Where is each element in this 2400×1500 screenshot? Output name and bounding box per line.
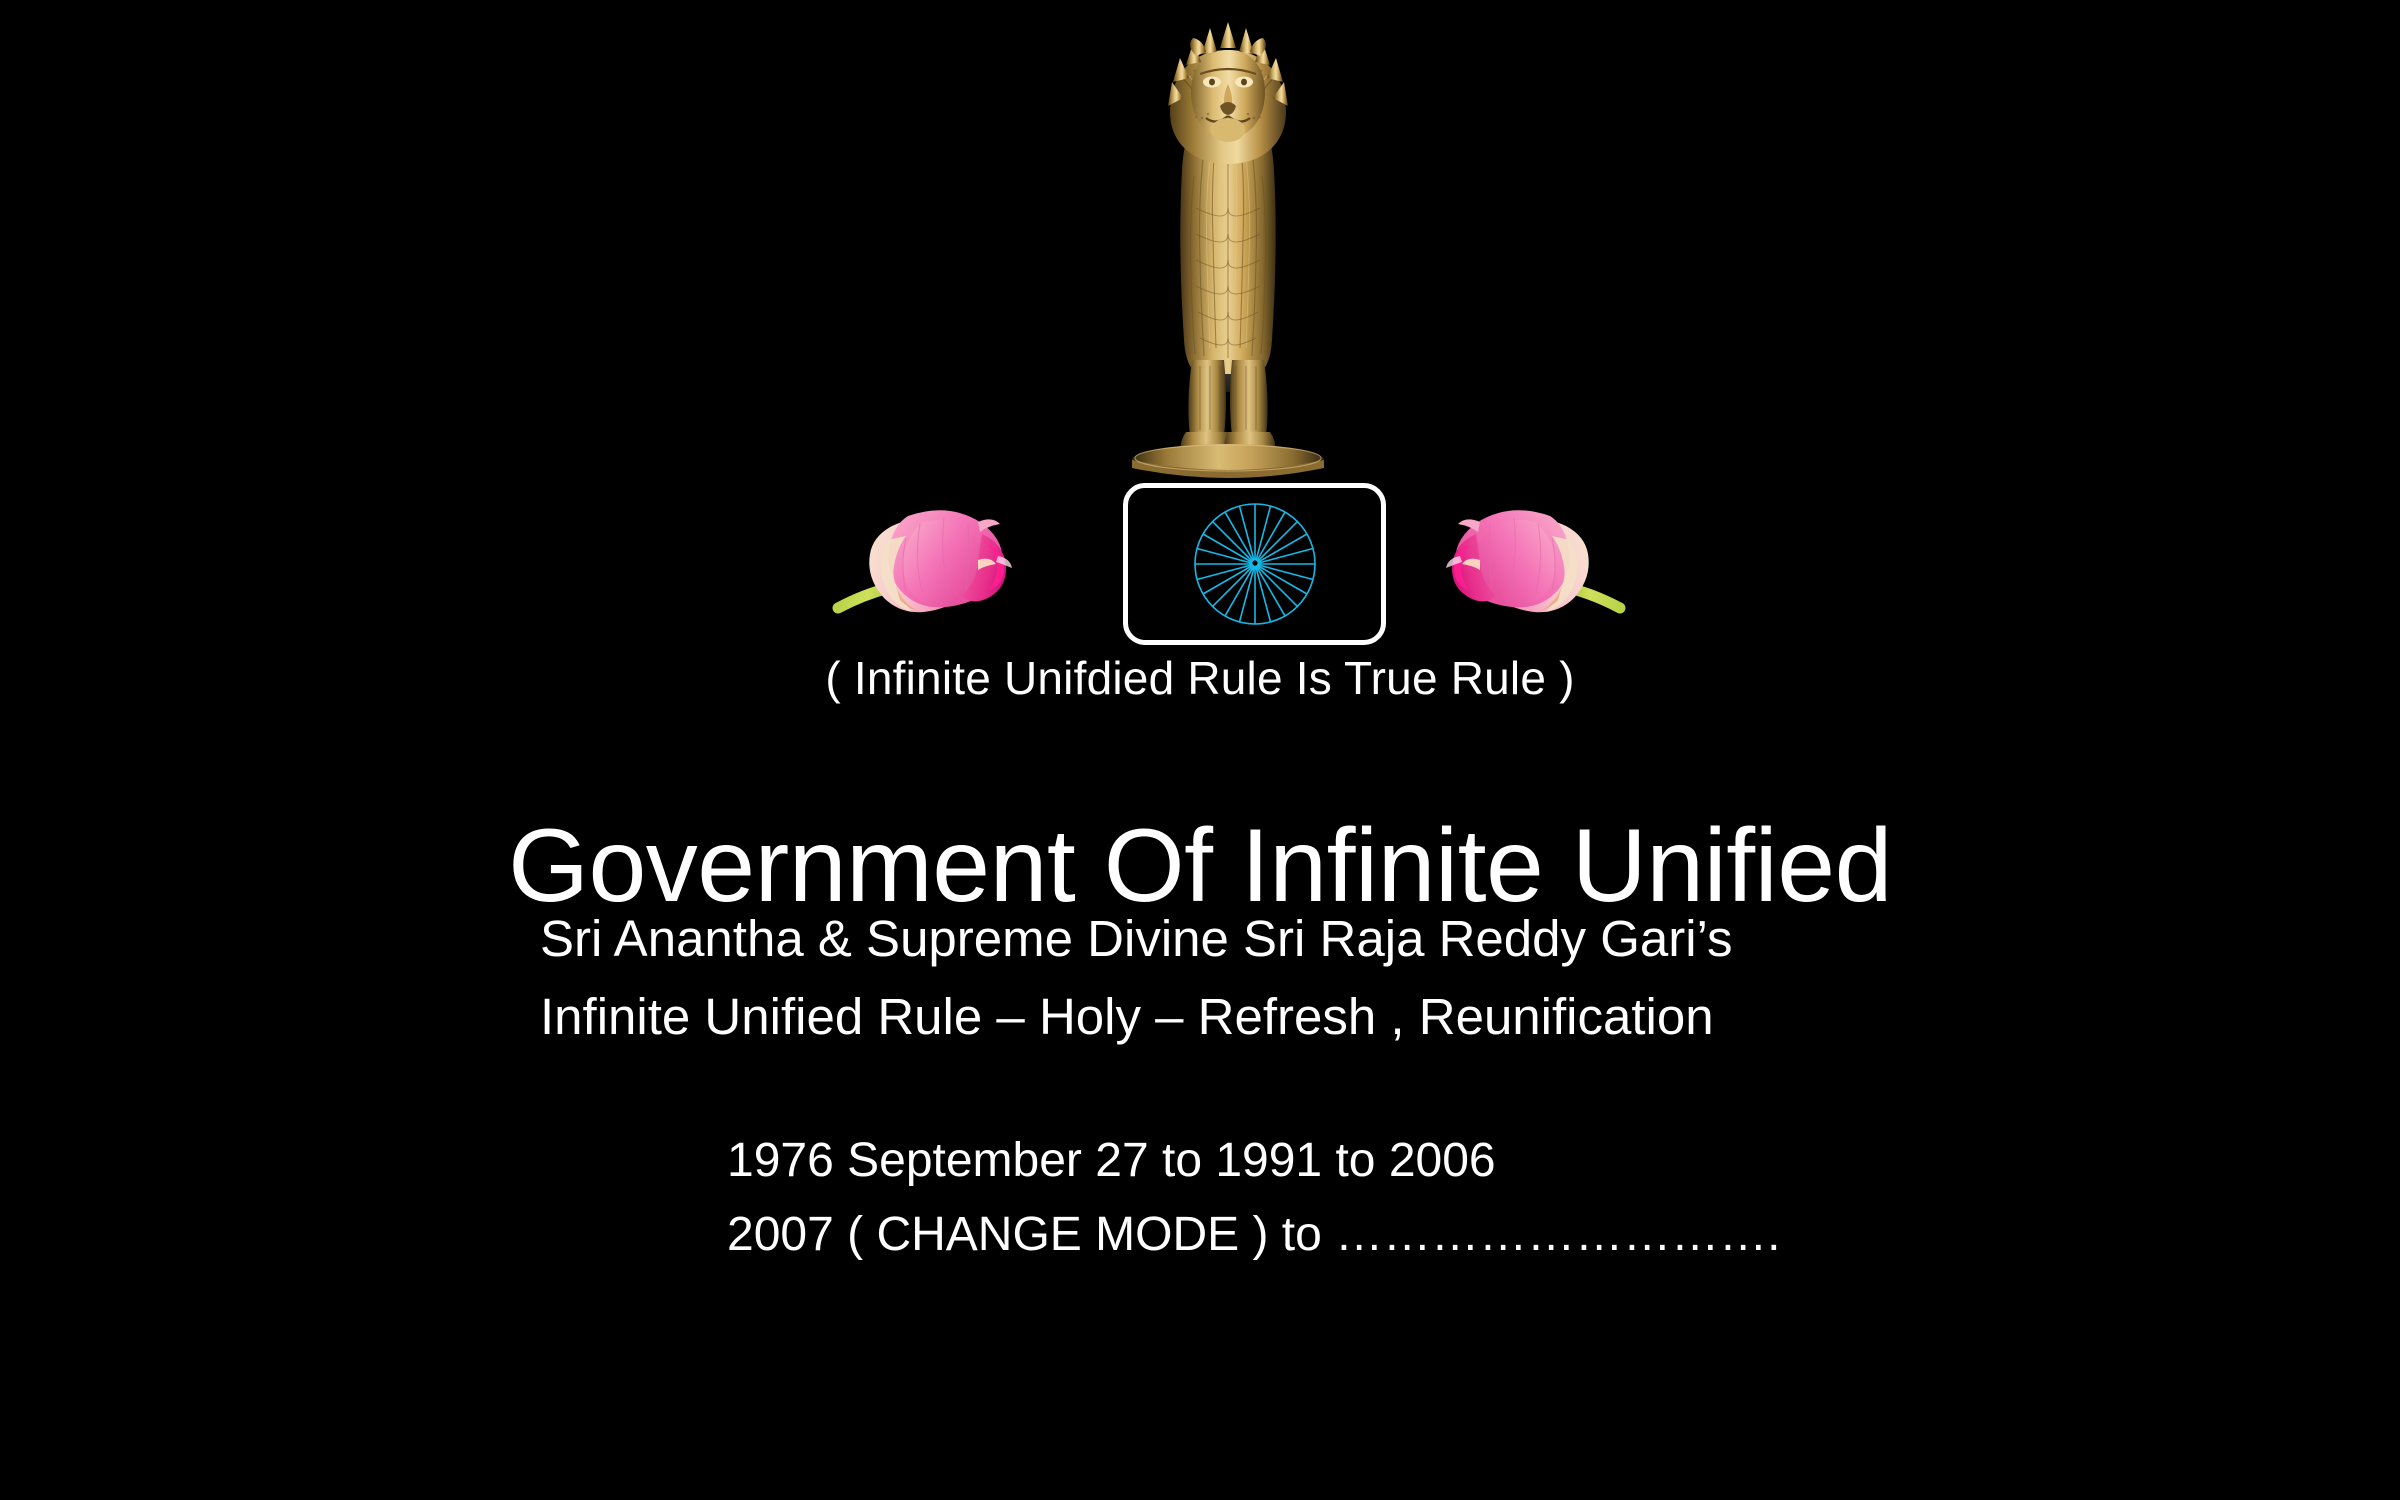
national-emblem-group xyxy=(0,0,2400,660)
pink-lotus-bud-icon-left xyxy=(820,482,1050,632)
subtitle-block: Sri Anantha & Supreme Divine Sri Raja Re… xyxy=(540,900,2040,1056)
pink-lotus-bud-icon-right xyxy=(1408,482,1638,632)
ashoka-lion-statue-icon xyxy=(1088,8,1368,478)
dates-block: 1976 September 27 to 1991 to 2006 2007 (… xyxy=(727,1124,2227,1272)
date-line-2: 2007 ( CHANGE MODE ) to ………………………. xyxy=(727,1198,2227,1272)
presentation-slide: ( Infinite Unifdied Rule Is True Rule ) … xyxy=(0,0,2400,1500)
tagline-text: ( Infinite Unifdied Rule Is True Rule ) xyxy=(0,650,2400,706)
subtitle-line-2: Infinite Unified Rule – Holy – Refresh ,… xyxy=(540,978,2040,1056)
ashoka-chakra-wheel-icon xyxy=(1180,489,1330,639)
date-line-1: 1976 September 27 to 1991 to 2006 xyxy=(727,1124,2227,1198)
ashoka-chakra-plaque xyxy=(1123,483,1386,645)
subtitle-line-1: Sri Anantha & Supreme Divine Sri Raja Re… xyxy=(540,900,2040,978)
